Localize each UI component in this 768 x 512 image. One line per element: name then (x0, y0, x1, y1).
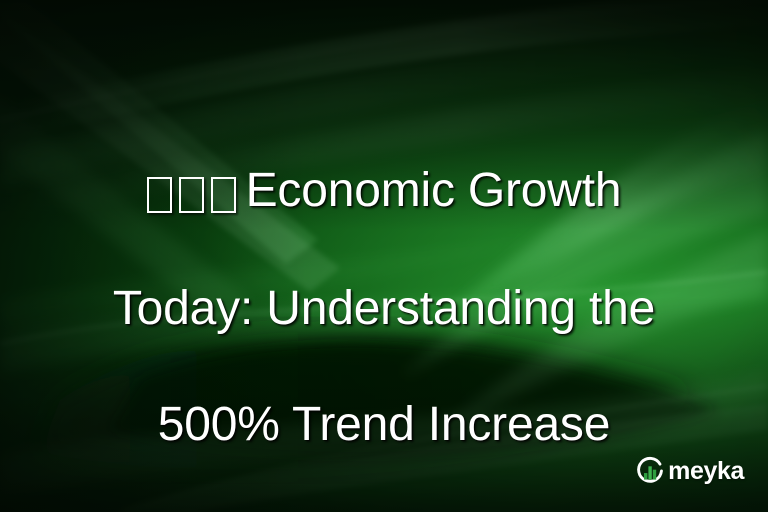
page-title: Economic Growth Today: Understanding the… (24, 104, 744, 512)
title-line-3: 500% Trend Increase (24, 396, 744, 454)
title-line-2: Today: Understanding the (24, 280, 744, 338)
banner: Economic Growth Today: Understanding the… (0, 0, 768, 512)
missing-glyph-box-2 (179, 177, 204, 213)
title-line-1-text: Economic Growth (246, 164, 622, 217)
missing-glyph-box-1 (147, 177, 172, 213)
brand-logo[interactable]: meyka (635, 454, 744, 488)
brand-wordmark: meyka (668, 459, 744, 484)
title-line-1: Economic Growth (24, 162, 744, 222)
missing-glyph-group (147, 164, 236, 222)
title-block: Economic Growth Today: Understanding the… (0, 104, 768, 512)
missing-glyph-box-3 (211, 177, 236, 213)
circle-bar-chart-icon (635, 456, 665, 486)
